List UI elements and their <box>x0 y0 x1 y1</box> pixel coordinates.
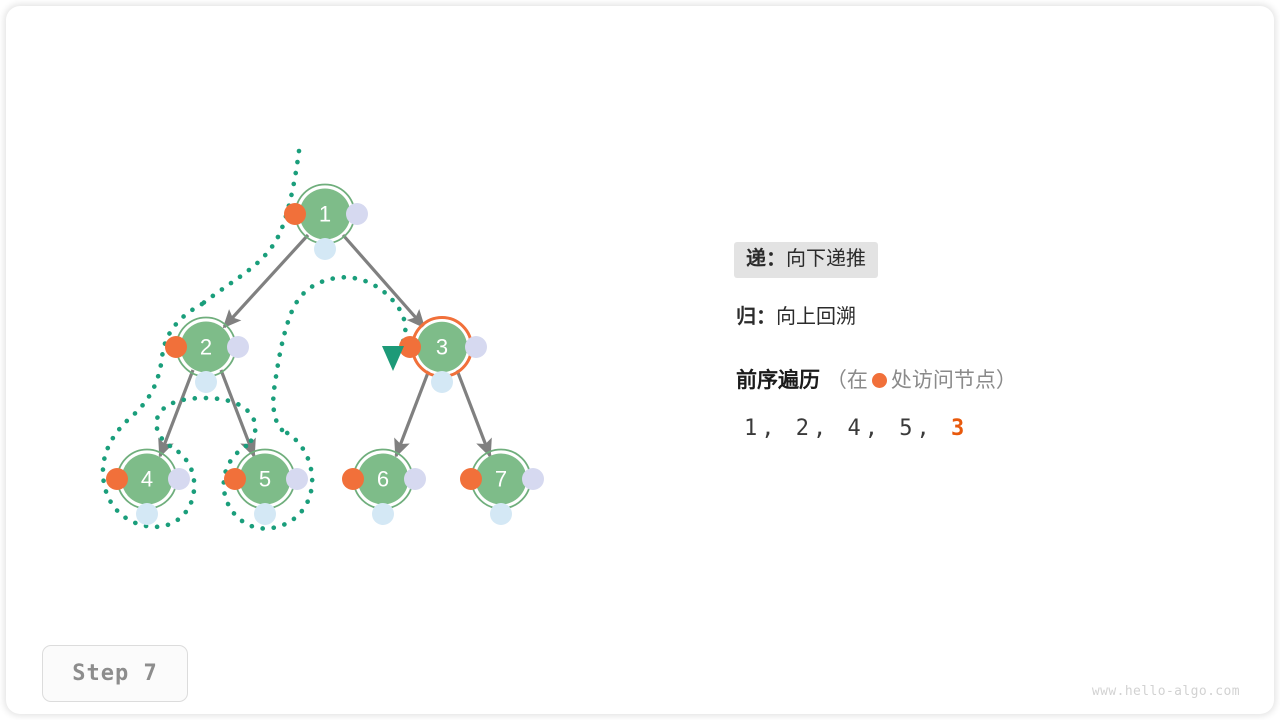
traversal-visited-4: 5 <box>899 416 916 441</box>
node-5-inorder-dot <box>286 468 308 490</box>
node-1-postorder-dot <box>314 238 336 260</box>
node-6-inorder-dot <box>404 468 426 490</box>
node-1-preorder-dot <box>284 203 306 225</box>
path-segment-enter <box>202 151 299 304</box>
traversal-sequence: 1, 2, 4, 5, 3 <box>744 416 968 441</box>
legend-recurse-key: 递 <box>746 248 766 270</box>
node-4-label: 4 <box>141 467 153 492</box>
legend-return-text: 向上回溯 <box>776 306 856 328</box>
edge-3-7 <box>457 370 490 456</box>
node-7-postorder-dot <box>490 503 512 525</box>
edge-3-6 <box>396 370 429 456</box>
node-4-preorder-dot <box>106 468 128 490</box>
preorder-dot-icon <box>872 373 887 388</box>
node-3-inorder-dot <box>465 336 487 358</box>
traversal-visited-1: 1 <box>744 416 761 441</box>
node-6-label: 6 <box>377 467 389 492</box>
node-4-inorder-dot <box>168 468 190 490</box>
edge-1-2 <box>224 235 308 327</box>
binary-tree-diagram: 1 2 3 <box>6 6 1274 714</box>
traversal-title-main: 前序遍历 <box>736 369 820 392</box>
node-1-inorder-dot <box>346 203 368 225</box>
node-6-preorder-dot <box>342 468 364 490</box>
legend-recurse-sep: ： <box>766 248 786 270</box>
edge-2-4 <box>160 370 193 456</box>
tree-node-4[interactable]: 4 <box>106 450 190 526</box>
node-3-postorder-dot <box>431 371 453 393</box>
traversal-sep-1: , <box>761 416 778 441</box>
tree-node-2[interactable]: 2 <box>165 318 249 394</box>
page-content: 1 2 3 <box>6 6 1274 714</box>
node-5-label: 5 <box>259 467 271 492</box>
tree-node-6[interactable]: 6 <box>342 450 426 526</box>
tree-node-7[interactable]: 7 <box>460 450 544 526</box>
node-5-postorder-dot <box>254 503 276 525</box>
page-card: 1 2 3 <box>6 6 1274 714</box>
node-2-preorder-dot <box>165 336 187 358</box>
legend-recurse: 递：向下递推 <box>734 242 878 278</box>
legend-return-sep: ： <box>756 306 776 328</box>
traversal-sep-2: , <box>813 416 830 441</box>
current-node-pointer-icon <box>382 346 404 371</box>
node-4-postorder-dot <box>136 503 158 525</box>
node-6-postorder-dot <box>372 503 394 525</box>
node-2-postorder-dot <box>195 371 217 393</box>
node-7-inorder-dot <box>522 468 544 490</box>
legend-return: 归：向上回溯 <box>734 300 858 336</box>
tree-node-5[interactable]: 5 <box>224 450 308 526</box>
edge-2-5 <box>221 370 254 456</box>
traversal-visited-3: 4 <box>848 416 865 441</box>
edge-1-3 <box>343 235 424 327</box>
legend-recurse-text: 向下递推 <box>786 248 866 270</box>
node-7-preorder-dot <box>460 468 482 490</box>
node-7-label: 7 <box>495 467 507 492</box>
node-2-inorder-dot <box>227 336 249 358</box>
node-1-label: 1 <box>319 202 331 227</box>
screenshot-root: 1 2 3 <box>0 0 1280 720</box>
step-badge: Step 7 <box>42 645 188 702</box>
step-badge-label: Step 7 <box>72 661 157 686</box>
traversal-sep-3: , <box>865 416 882 441</box>
legend-return-key: 归 <box>736 306 756 328</box>
traversal-current-value: 3 <box>951 416 968 441</box>
watermark: www.hello-algo.com <box>1092 684 1240 699</box>
node-3-label: 3 <box>436 335 448 360</box>
traversal-title: 前序遍历 （在处访问节点） <box>736 369 1017 392</box>
traversal-title-suffix: 处访问节点） <box>891 369 1017 392</box>
node-2-label: 2 <box>200 335 212 360</box>
traversal-title-prefix: （在 <box>826 369 868 392</box>
traversal-sep-4: , <box>917 416 934 441</box>
tree-node-3[interactable]: 3 <box>399 318 487 394</box>
node-5-preorder-dot <box>224 468 246 490</box>
traversal-visited-2: 2 <box>796 416 813 441</box>
